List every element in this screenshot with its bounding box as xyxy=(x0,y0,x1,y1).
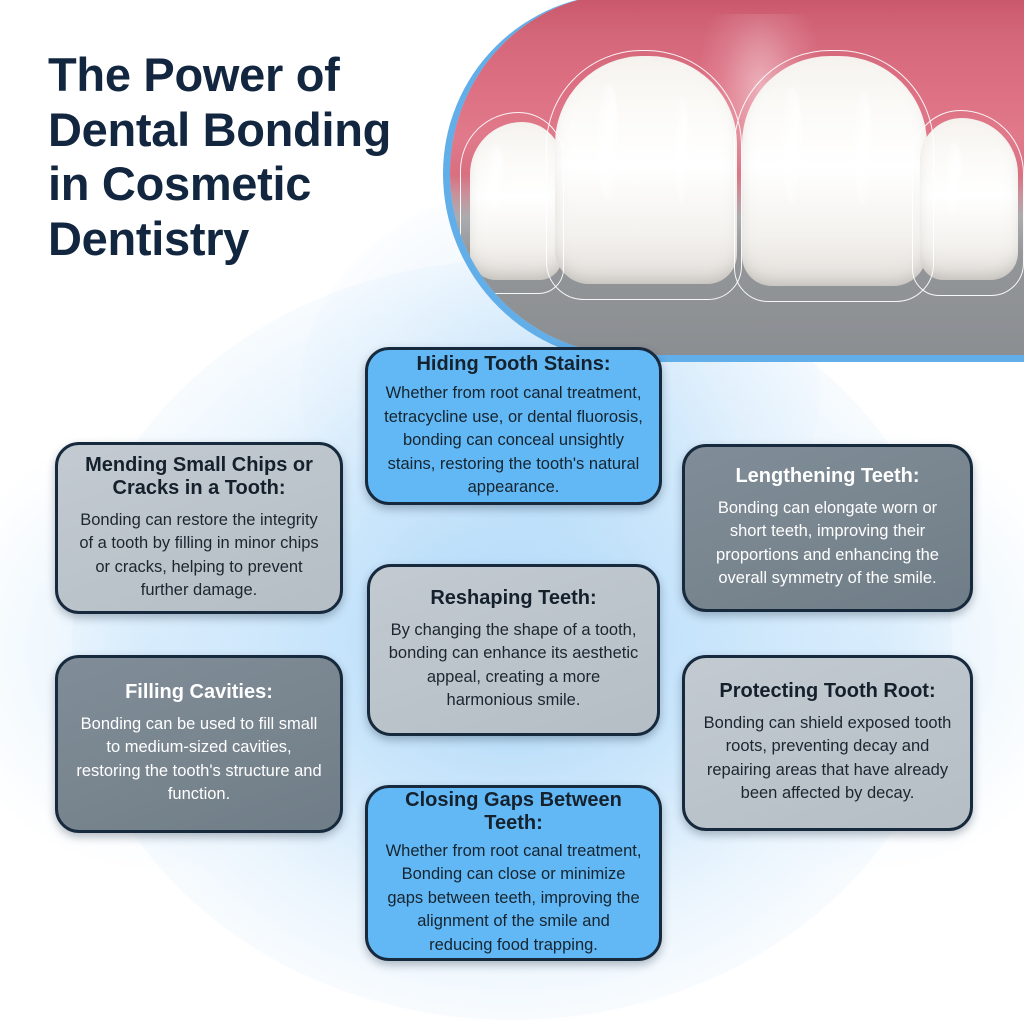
card-closing-gaps-between-teeth[interactable]: Closing Gaps Between Teeth: Whether from… xyxy=(365,785,662,961)
card-body: Whether from root canal treatment, tetra… xyxy=(384,382,643,499)
card-title: Protecting Tooth Root: xyxy=(701,680,954,704)
card-body: Bonding can be used to fill small to med… xyxy=(74,713,324,807)
card-title: Mending Small Chips or Cracks in a Tooth… xyxy=(74,454,324,501)
infographic-canvas: The Power of Dental Bonding in Cosmetic … xyxy=(0,0,1024,1024)
card-body: Whether from root canal treatment, Bondi… xyxy=(384,840,643,957)
teeth-photo xyxy=(443,0,1024,362)
tooth-central-left xyxy=(555,56,737,284)
card-reshaping-teeth[interactable]: Reshaping Teeth: By changing the shape o… xyxy=(367,564,660,736)
card-title: Hiding Tooth Stains: xyxy=(384,353,643,377)
tooth-gloss xyxy=(675,96,689,206)
tooth-central-right xyxy=(742,56,927,286)
card-filling-cavities[interactable]: Filling Cavities: Bonding can be used to… xyxy=(55,655,343,833)
tooth-gloss xyxy=(488,144,504,214)
card-body: By changing the shape of a tooth, bondin… xyxy=(386,619,641,713)
card-title: Reshaping Teeth: xyxy=(386,587,641,611)
card-title: Filling Cavities: xyxy=(74,681,324,705)
card-body: Bonding can shield exposed tooth roots, … xyxy=(701,712,954,806)
card-body: Bonding can restore the integrity of a t… xyxy=(74,509,324,603)
card-protecting-tooth-root[interactable]: Protecting Tooth Root: Bonding can shiel… xyxy=(682,655,973,831)
card-lengthening-teeth[interactable]: Lengthening Teeth: Bonding can elongate … xyxy=(682,444,973,612)
tooth-lateral-left xyxy=(470,122,562,280)
card-hiding-stains[interactable]: Hiding Tooth Stains: Whether from root c… xyxy=(365,347,662,505)
tooth-gloss xyxy=(782,86,802,204)
tooth-gloss xyxy=(597,82,619,202)
tooth-lateral-right xyxy=(920,118,1018,280)
card-title: Lengthening Teeth: xyxy=(701,465,954,489)
card-mending-small-chips[interactable]: Mending Small Chips or Cracks in a Tooth… xyxy=(55,442,343,614)
page-title: The Power of Dental Bonding in Cosmetic … xyxy=(48,48,468,266)
tooth-gloss xyxy=(946,142,962,216)
card-body: Bonding can elongate worn or short teeth… xyxy=(701,497,954,591)
teeth-photo-image xyxy=(450,0,1024,355)
tooth-gloss xyxy=(854,90,872,206)
card-title: Closing Gaps Between Teeth: xyxy=(384,789,643,836)
